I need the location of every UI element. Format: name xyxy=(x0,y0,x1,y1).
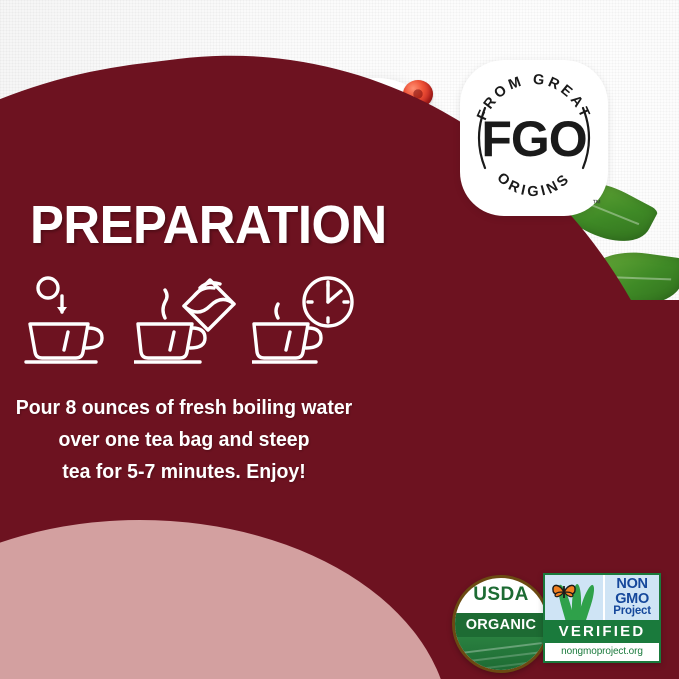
instruction-line-2: over one tea bag and steep xyxy=(9,424,359,456)
nongmo-url: nongmoproject.org xyxy=(545,643,659,661)
nongmo-line-non: NON xyxy=(616,577,647,592)
nongmo-wordmark: NON GMO Project xyxy=(603,575,659,620)
svg-text:ORIGINS: ORIGINS xyxy=(494,170,575,200)
product-image: PREPARATION xyxy=(0,0,679,679)
fgo-logo: FROM GREAT ORIGINS FGO xyxy=(460,60,608,216)
page-title: PREPARATION xyxy=(30,194,387,256)
nongmo-line-gmo: GMO xyxy=(615,592,649,607)
verified-label: VERIFIED xyxy=(545,620,659,643)
usda-field-graphic xyxy=(455,637,547,670)
nongmo-verified-seal: NON GMO Project VERIFIED nongmoproject.o… xyxy=(543,573,661,663)
usda-organic-seal: USDA ORGANIC xyxy=(452,575,550,673)
butterfly-icon xyxy=(551,582,577,602)
step-steep-timer xyxy=(252,272,356,368)
nongmo-artwork: NON GMO Project xyxy=(545,575,659,620)
pour-water-icon xyxy=(16,272,120,368)
fgo-bottom-arc: ORIGINS xyxy=(494,170,575,200)
organic-label: ORGANIC xyxy=(455,613,547,637)
fgo-monogram: FGO xyxy=(481,111,586,167)
preparation-steps xyxy=(16,272,356,368)
instruction-line-3: tea for 5-7 minutes. Enjoy! xyxy=(9,456,359,488)
fgo-brand-badge: FROM GREAT ORIGINS FGO xyxy=(460,60,608,216)
step-add-tea-bag xyxy=(134,272,238,368)
instructions-text: Pour 8 ounces of fresh boiling water ove… xyxy=(9,392,359,487)
nongmo-sky xyxy=(545,575,603,620)
instruction-line-1: Pour 8 ounces of fresh boiling water xyxy=(9,392,359,424)
nongmo-line-project: Project xyxy=(613,606,651,618)
usda-label: USDA xyxy=(455,578,547,613)
steep-timer-icon xyxy=(252,272,356,368)
trademark-symbol: ™ xyxy=(592,198,601,208)
step-pour-water xyxy=(16,272,120,368)
tea-bag-icon xyxy=(134,272,238,368)
